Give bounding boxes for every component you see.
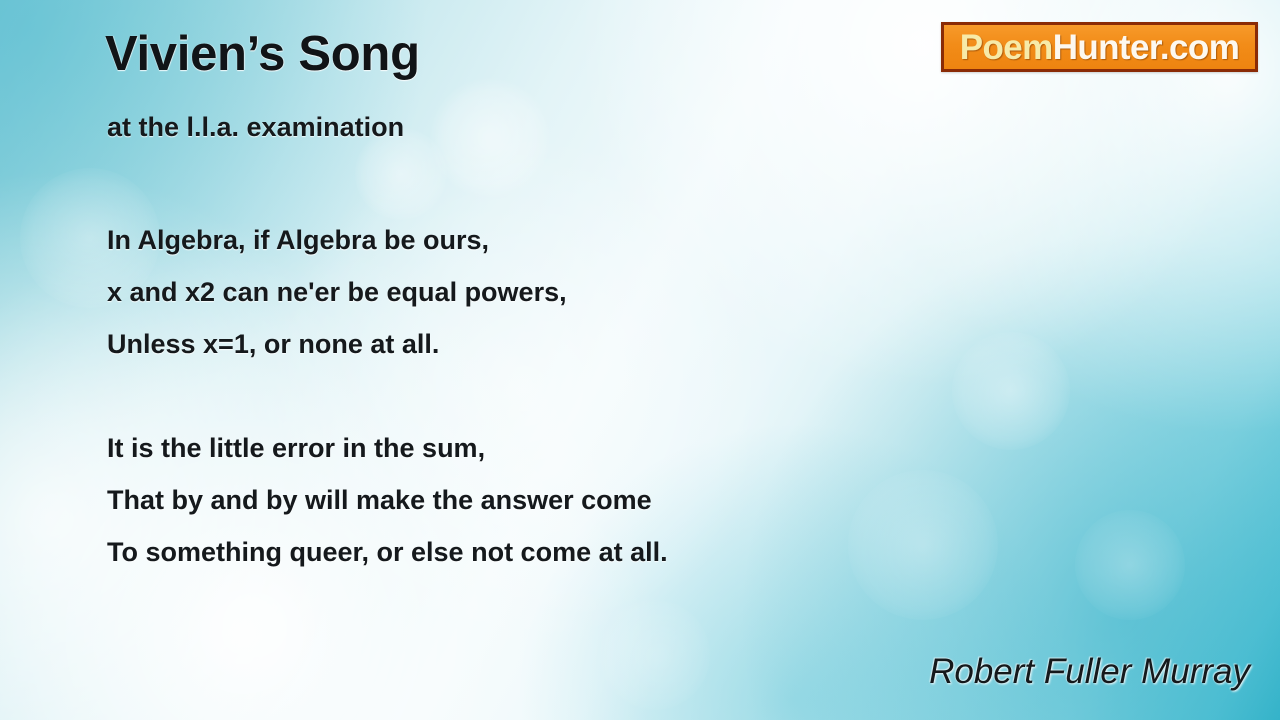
poem-line: Unless x=1, or none at all. — [107, 318, 867, 370]
poem-body: In Algebra, if Algebra be ours, x and x2… — [107, 214, 867, 578]
poem-title: Vivien’s Song — [105, 26, 420, 82]
poem-author: Robert Fuller Murray — [929, 652, 1250, 692]
poemhunter-logo-badge[interactable]: PoemHunter.com — [941, 22, 1258, 72]
poem-line: It is the little error in the sum, — [107, 422, 867, 474]
poem-subtitle: at the l.l.a. examination — [107, 112, 404, 143]
poem-line: In Algebra, if Algebra be ours, — [107, 214, 867, 266]
poem-stanza: It is the little error in the sum, That … — [107, 422, 867, 578]
brand-name-part2: Hunter.com — [1053, 28, 1240, 67]
poem-line: To something queer, or else not come at … — [107, 526, 867, 578]
poem-stanza: In Algebra, if Algebra be ours, x and x2… — [107, 214, 867, 370]
poemhunter-logo-text: PoemHunter.com — [960, 30, 1239, 65]
poem-image-card: Vivien’s Song at the l.l.a. examination … — [0, 0, 1280, 720]
poem-line: x and x2 can ne'er be equal powers, — [107, 266, 867, 318]
brand-name-part1: Poem — [960, 28, 1053, 67]
poem-line: That by and by will make the answer come — [107, 474, 867, 526]
